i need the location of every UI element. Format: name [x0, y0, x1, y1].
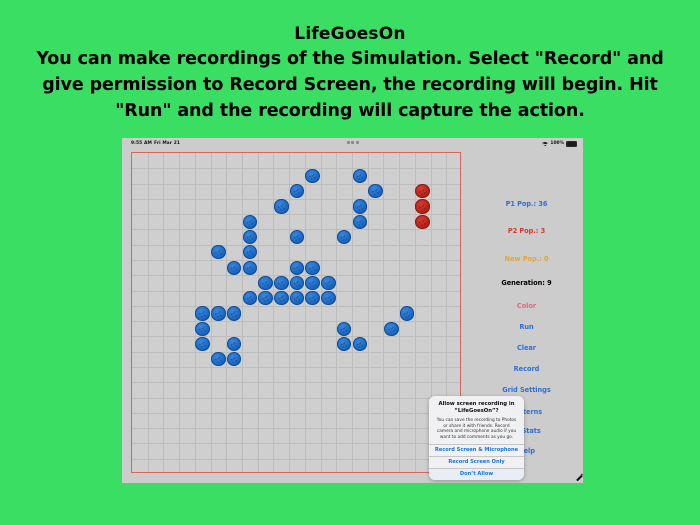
cell-texture: [259, 277, 272, 289]
grid-cell[interactable]: [211, 352, 226, 366]
cell-texture: [291, 231, 304, 243]
cell-texture: [338, 231, 351, 243]
grid-cell[interactable]: [368, 184, 383, 198]
grid-cell[interactable]: [227, 306, 242, 320]
multitask-dots-icon[interactable]: [347, 141, 359, 144]
dialog-button-group[interactable]: Record Screen & MicrophoneRecord Screen …: [429, 444, 524, 480]
cell-texture: [228, 338, 241, 350]
cell-texture: [228, 262, 241, 274]
menu-item-stats-label: Stats: [522, 427, 541, 435]
grid-cell[interactable]: [243, 261, 258, 275]
grid-cell[interactable]: [243, 245, 258, 259]
menu-item-color[interactable]: Color: [470, 302, 583, 310]
grid-cell[interactable]: [305, 291, 320, 305]
cell-texture: [259, 292, 272, 304]
grid-cell[interactable]: [290, 291, 305, 305]
cell-texture: [369, 185, 382, 197]
dialog-button-0[interactable]: Record Screen & Microphone: [429, 444, 524, 456]
cell-texture: [322, 292, 335, 304]
cell-texture: [354, 216, 367, 228]
cell-texture: [306, 277, 319, 289]
status-bar-date: Fri Mar 21: [154, 138, 180, 150]
cell-texture: [354, 200, 367, 212]
cell-texture: [244, 231, 257, 243]
slide-header: LifeGoesOn You can make recordings of th…: [0, 22, 700, 124]
cell-texture: [212, 353, 225, 365]
dialog-button-2[interactable]: Don’t Allow: [429, 468, 524, 480]
grid-cell[interactable]: [195, 337, 210, 351]
cell-texture: [401, 307, 414, 319]
grid-cell[interactable]: [274, 276, 289, 290]
cell-texture: [228, 307, 241, 319]
cell-texture: [212, 246, 225, 258]
cell-texture: [275, 292, 288, 304]
cell-texture: [244, 292, 257, 304]
stat-3: Generation: 9: [470, 279, 583, 287]
slide-description: You can make recordings of the Simulatio…: [0, 46, 700, 124]
cell-texture: [275, 277, 288, 289]
cell-texture: [291, 292, 304, 304]
cell-texture: [338, 338, 351, 350]
cell-texture: [338, 323, 351, 335]
cell-texture: [291, 185, 304, 197]
cell-texture: [244, 216, 257, 228]
grid-cell[interactable]: [290, 230, 305, 244]
grid-cell[interactable]: [400, 306, 415, 320]
grid-cell[interactable]: [227, 261, 242, 275]
cell-texture: [416, 185, 429, 197]
grid-cell[interactable]: [321, 291, 336, 305]
battery-percent-label: 100%: [550, 138, 564, 150]
grid-cells-layer[interactable]: [132, 153, 460, 472]
cell-texture: [291, 277, 304, 289]
status-bar-time: 9:55 AM: [131, 138, 152, 150]
grid-cell[interactable]: [353, 215, 368, 229]
menu-item-grid-settings[interactable]: Grid Settings: [470, 386, 583, 394]
cell-texture: [354, 170, 367, 182]
grid-cell[interactable]: [415, 215, 430, 229]
grid-cell[interactable]: [415, 199, 430, 213]
grid-cell[interactable]: [337, 230, 352, 244]
grid-cell[interactable]: [353, 337, 368, 351]
screen-recording-permission-dialog[interactable]: Allow screen recording in “LifeGoesOn”? …: [429, 396, 524, 480]
battery-full-icon: [566, 141, 577, 148]
grid-cell[interactable]: [415, 184, 430, 198]
simulation-grid[interactable]: [131, 152, 461, 473]
cell-texture: [322, 277, 335, 289]
wifi-icon: [542, 142, 548, 147]
cell-texture: [306, 170, 319, 182]
grid-cell[interactable]: [290, 184, 305, 198]
grid-cell[interactable]: [290, 261, 305, 275]
stat-2: New Pop.: 0: [470, 255, 583, 263]
grid-cell[interactable]: [337, 337, 352, 351]
dialog-title: Allow screen recording in “LifeGoesOn”?: [435, 401, 518, 415]
grid-cell[interactable]: [243, 291, 258, 305]
cell-texture: [354, 338, 367, 350]
grid-cell[interactable]: [290, 276, 305, 290]
cell-texture: [306, 292, 319, 304]
grid-cell[interactable]: [211, 245, 226, 259]
grid-cell[interactable]: [353, 169, 368, 183]
cell-texture: [416, 216, 429, 228]
menu-item-run[interactable]: Run: [470, 323, 583, 331]
grid-cell[interactable]: [227, 352, 242, 366]
grid-cell[interactable]: [211, 306, 226, 320]
dialog-header: Allow screen recording in “LifeGoesOn”? …: [429, 396, 524, 444]
cell-texture: [416, 200, 429, 212]
grid-cell[interactable]: [258, 276, 273, 290]
grid-cell[interactable]: [243, 230, 258, 244]
menu-item-clear[interactable]: Clear: [470, 344, 583, 352]
cell-texture: [291, 262, 304, 274]
cell-texture: [275, 200, 288, 212]
cell-texture: [244, 262, 257, 274]
grid-cell[interactable]: [305, 261, 320, 275]
grid-cell[interactable]: [274, 291, 289, 305]
cell-texture: [212, 307, 225, 319]
grid-cell[interactable]: [337, 322, 352, 336]
menu-item-record[interactable]: Record: [470, 365, 583, 373]
grid-cell[interactable]: [305, 169, 320, 183]
cell-texture: [385, 323, 398, 335]
cell-texture: [228, 353, 241, 365]
grid-cell[interactable]: [305, 276, 320, 290]
grid-cell[interactable]: [274, 199, 289, 213]
cell-texture: [196, 323, 209, 335]
grid-cell[interactable]: [353, 199, 368, 213]
dialog-message: You can save the recording to Photos or …: [435, 418, 518, 440]
dialog-button-1[interactable]: Record Screen Only: [429, 456, 524, 468]
grid-cell[interactable]: [321, 276, 336, 290]
page-title: LifeGoesOn: [0, 22, 700, 46]
grid-cell[interactable]: [195, 322, 210, 336]
cursor-arrow-icon: [575, 472, 583, 481]
grid-cell[interactable]: [227, 337, 242, 351]
stat-0: P1 Pop.: 36: [470, 200, 583, 208]
grid-cell[interactable]: [243, 215, 258, 229]
grid-cell[interactable]: [384, 322, 399, 336]
status-bar-right-group: 100%: [542, 138, 577, 150]
grid-cell[interactable]: [258, 291, 273, 305]
status-bar: 9:55 AM Fri Mar 21 100%: [122, 138, 583, 150]
cell-texture: [196, 307, 209, 319]
cell-texture: [306, 262, 319, 274]
cell-texture: [196, 338, 209, 350]
cell-texture: [244, 246, 257, 258]
stat-1: P2 Pop.: 3: [470, 227, 583, 235]
ipad-screenshot: 9:55 AM Fri Mar 21 100% P1 Pop.: 36P2 Po…: [122, 138, 583, 483]
grid-cell[interactable]: [195, 306, 210, 320]
